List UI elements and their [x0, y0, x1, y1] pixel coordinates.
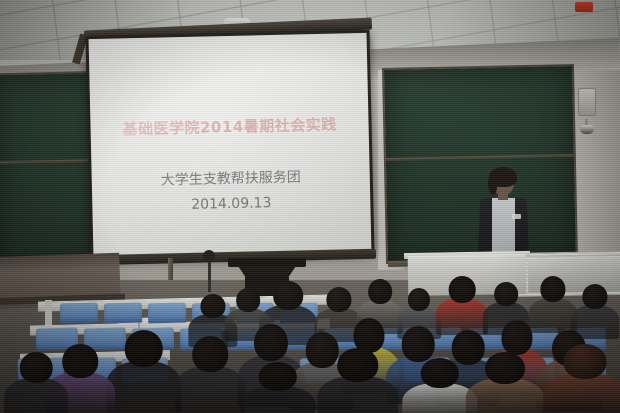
audience-member-head [449, 276, 476, 303]
audience-member [14, 352, 58, 413]
audience-member [252, 362, 304, 413]
audience-member [578, 284, 612, 336]
projection-screen: 基础医学院2014暑期社会实践 大学生支教帮扶服务团 2014.09.13 [89, 33, 372, 257]
audience-member-head [326, 287, 351, 312]
audience-member-head [421, 358, 459, 388]
audience-member-body [106, 361, 181, 412]
audience-member-head [408, 288, 430, 311]
screen-sheen [89, 33, 372, 257]
audience-member [478, 352, 532, 413]
audience-member-head [564, 344, 607, 379]
wall-speaker-icon [578, 88, 596, 116]
audience-member [536, 276, 570, 330]
audience-member-head [192, 336, 228, 372]
audience-member-body [543, 373, 620, 413]
audience-member-head [337, 348, 378, 382]
audience-member-head [368, 279, 392, 304]
audience-member-body [175, 366, 245, 413]
audience-member-head [62, 344, 98, 378]
audience-member-head [20, 352, 53, 383]
presenter-badge [512, 214, 521, 219]
audience-member-head [273, 281, 303, 310]
audience-member-head [200, 294, 225, 318]
audience-member-head [402, 326, 435, 362]
fire-alarm-icon [575, 2, 593, 12]
lecture-seat [60, 303, 98, 324]
audience-member-head [236, 288, 260, 312]
audience-member-body [4, 378, 68, 413]
lecture-seat [148, 303, 186, 324]
dome-camera-icon [580, 125, 594, 137]
audience-member-head [494, 282, 518, 306]
microphone-stand [208, 258, 211, 292]
audience-member-head [582, 284, 607, 309]
audience-member-head [501, 320, 532, 355]
audience-member-head [125, 330, 163, 367]
audience-member-head [485, 352, 525, 384]
audience-member [414, 358, 466, 413]
lecture-hall-photo: 基础医学院2014暑期社会实践 大学生支教帮扶服务团 2014.09.13 [0, 0, 620, 413]
audience-member [444, 276, 480, 332]
chalkboard-divider [386, 154, 574, 161]
slide-date: 2014.09.13 [92, 193, 370, 215]
lecture-seat [104, 303, 142, 324]
audience-member-head [254, 324, 288, 361]
podium-top [228, 258, 306, 267]
presenter-hair-side [488, 174, 497, 195]
slide-subtitle: 大学生支教帮扶服务团 [92, 165, 370, 191]
audience-member-head [259, 362, 297, 391]
audience-member-head [540, 276, 565, 302]
slide-title: 基础医学院2014暑期社会实践 [90, 113, 368, 140]
audience-member [118, 330, 170, 408]
audience-member [186, 336, 234, 410]
audience-member [556, 344, 614, 413]
audience-member [330, 348, 386, 413]
projection-screen-frame: 基础医学院2014暑期社会实践 大学生支教帮扶服务团 2014.09.13 [85, 30, 374, 260]
microphone-icon [203, 250, 215, 262]
bench-side-panel [45, 300, 52, 326]
